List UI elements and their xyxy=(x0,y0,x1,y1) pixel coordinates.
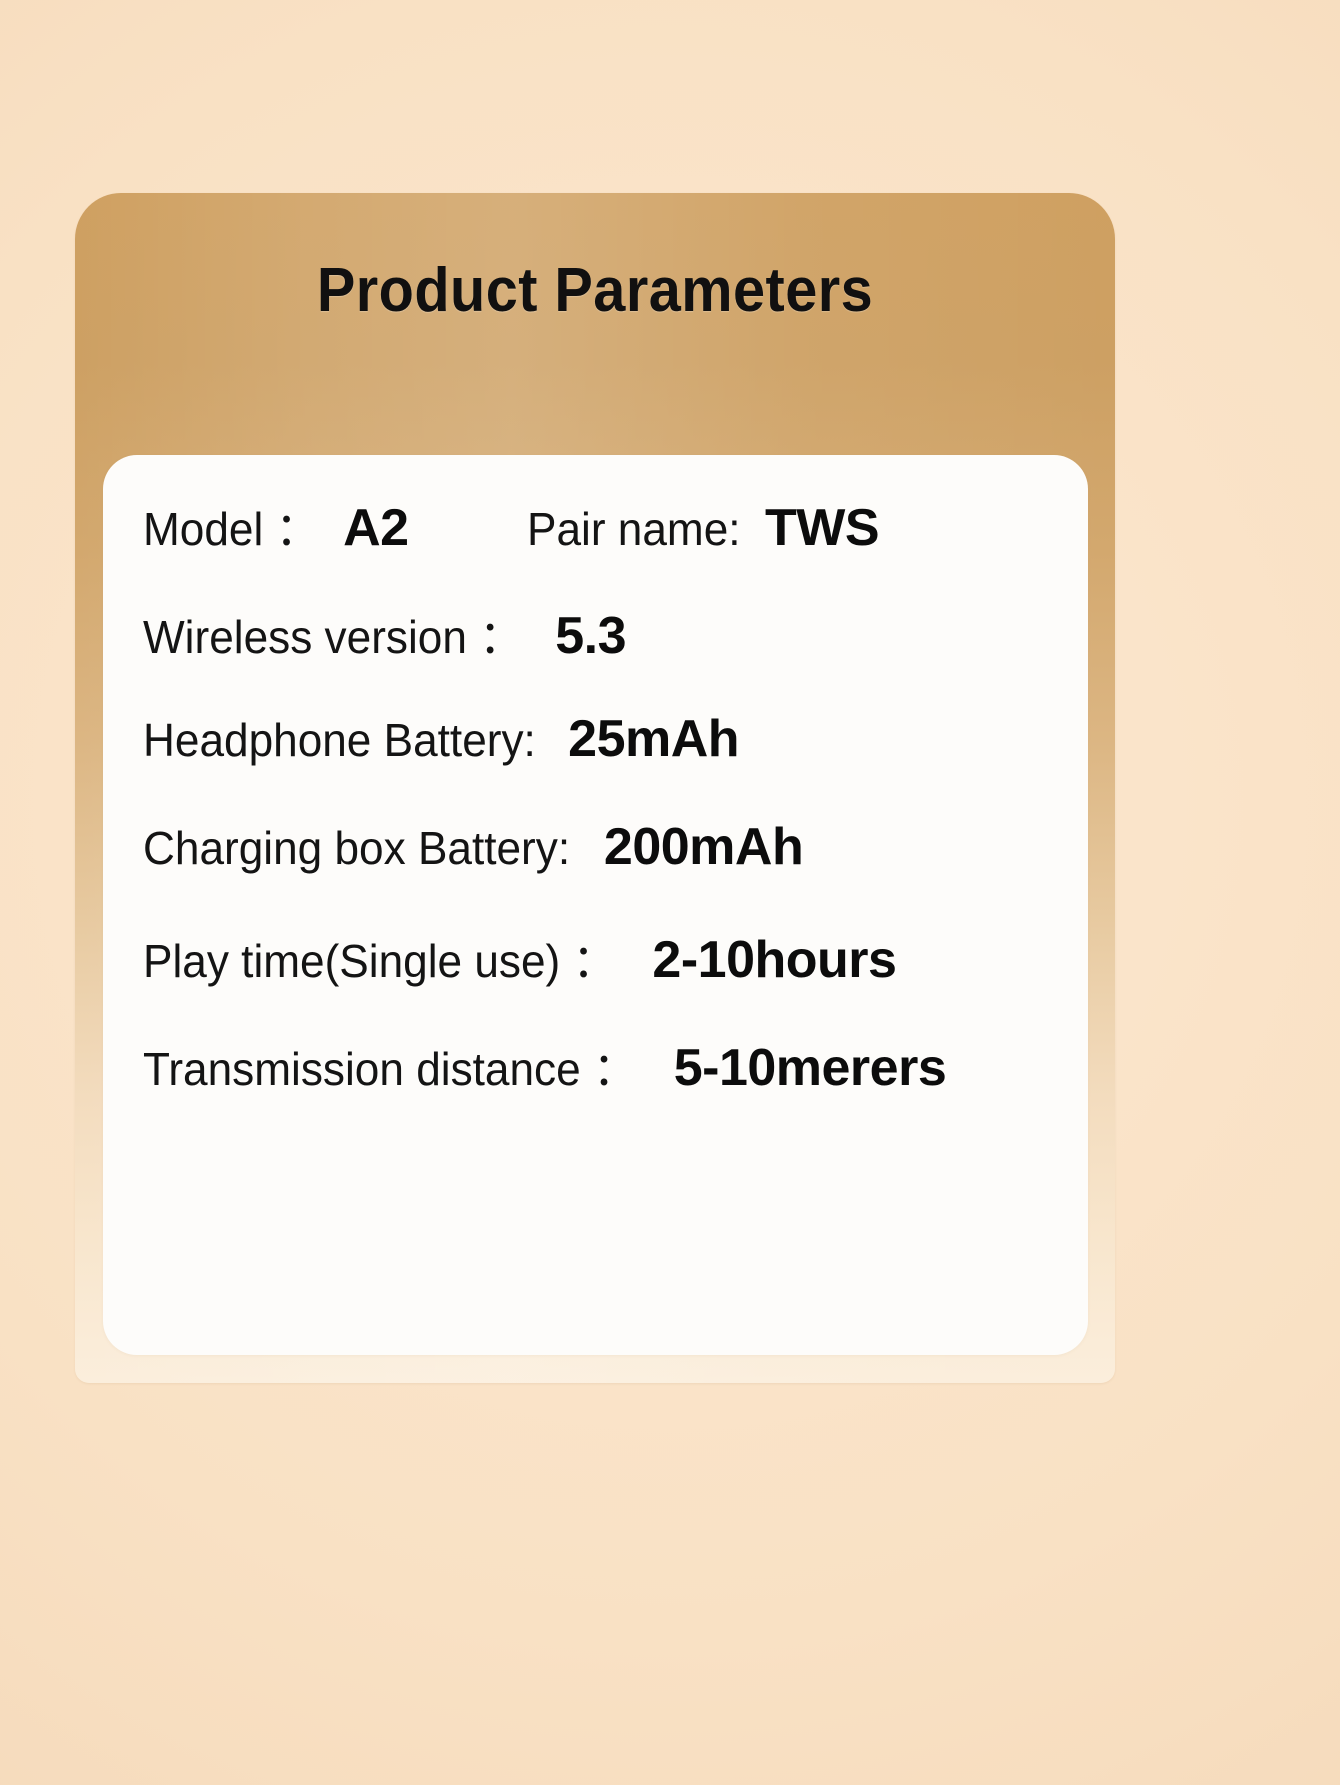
page-title: Product Parameters xyxy=(111,255,1078,326)
spec-label-headphone-battery: Headphone Battery: xyxy=(143,713,536,767)
spec-value-pair-name: TWS xyxy=(765,498,879,558)
spec-label-wireless-version: Wireless version ： xyxy=(143,601,523,667)
spec-row-play-time: Play time(Single use) ： 2-10hours xyxy=(143,925,1068,1033)
spec-label-pair-name: Pair name: xyxy=(527,502,741,556)
spec-label-charging-box-battery: Charging box Battery: xyxy=(143,821,570,875)
spec-value-play-time: 2-10hours xyxy=(652,930,896,990)
specifications-list: Model ： A2 Pair name: TWS Wireless versi… xyxy=(143,493,1068,1141)
spec-value-wireless-version: 5.3 xyxy=(555,606,626,666)
spec-value-headphone-battery: 25mAh xyxy=(568,709,739,769)
spec-row-transmission-distance: Transmission distance ： 5-10merers xyxy=(143,1033,1068,1141)
spec-label-play-time: Play time(Single use) ： xyxy=(143,925,617,991)
specifications-panel: Model ： A2 Pair name: TWS Wireless versi… xyxy=(103,455,1088,1355)
spec-value-transmission-distance: 5-10merers xyxy=(674,1038,947,1098)
spec-row-headphone-battery: Headphone Battery: 25mAh xyxy=(143,709,1068,817)
spec-row-wireless-version: Wireless version ： 5.3 xyxy=(143,601,1068,709)
spec-label-model: Model ： xyxy=(143,493,320,559)
spec-value-charging-box-battery: 200mAh xyxy=(604,817,803,877)
spec-row-charging-box-battery: Charging box Battery: 200mAh xyxy=(143,817,1068,925)
spec-label-transmission-distance: Transmission distance ： xyxy=(143,1033,637,1099)
spec-pair-name-group: Pair name: TWS xyxy=(527,498,879,558)
spec-value-model: A2 xyxy=(343,498,408,558)
spec-row-model: Model ： A2 Pair name: TWS xyxy=(143,493,1068,601)
